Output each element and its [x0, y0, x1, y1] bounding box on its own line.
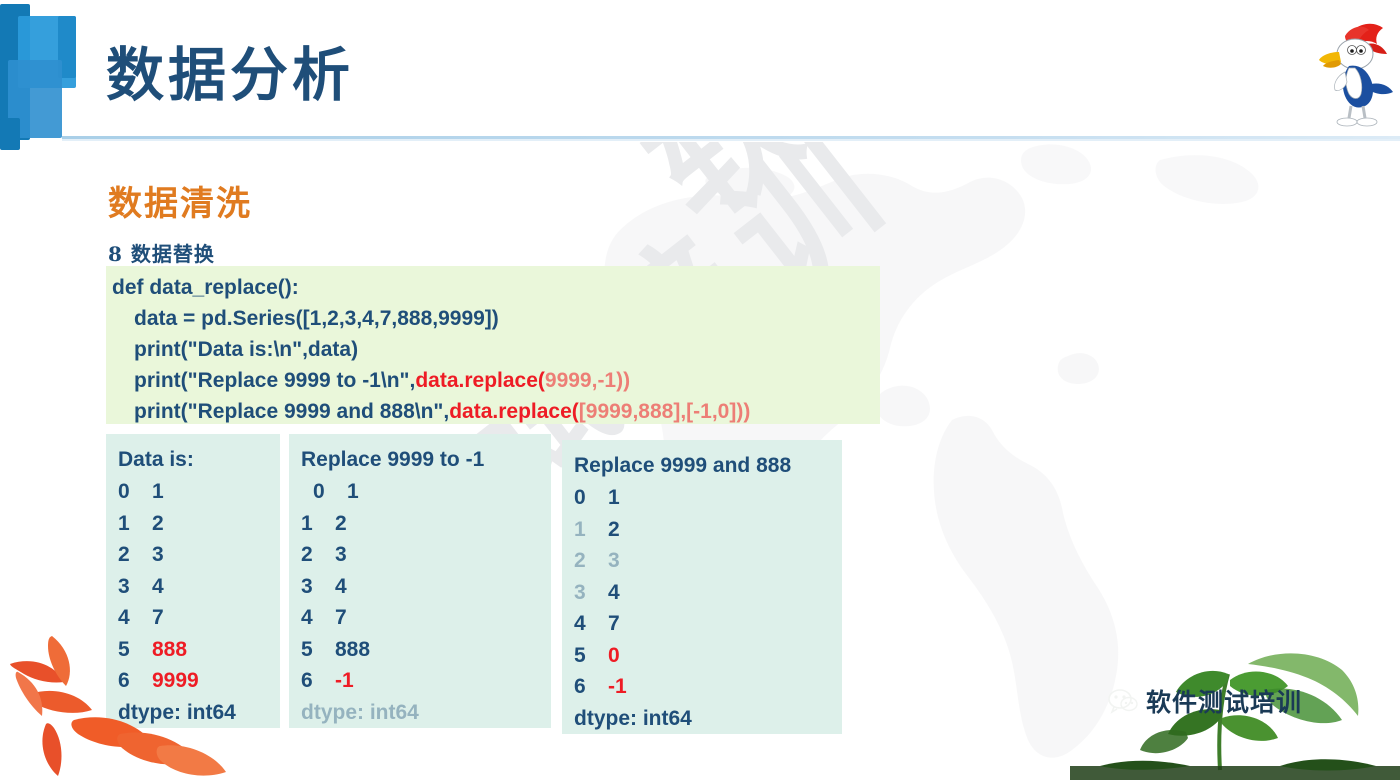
- output-row: 23: [301, 539, 539, 571]
- output-dtype: dtype: int64: [574, 703, 830, 735]
- wechat-icon: [1108, 688, 1138, 714]
- row-value: 9999: [152, 669, 199, 692]
- code-text-3-call: data.replace(: [415, 369, 545, 392]
- row-index: 0: [574, 482, 608, 514]
- brand-footer: 软件测试培训: [1108, 683, 1302, 719]
- header-divider-shadow: [62, 139, 1400, 141]
- slide-canvas: 软件测 试培训 数据分析: [0, 0, 1400, 780]
- output-row: 47: [118, 602, 268, 634]
- row-index: 0: [301, 476, 347, 508]
- output-row: 34: [574, 577, 830, 609]
- row-index: 4: [301, 602, 335, 634]
- output-row: 47: [574, 608, 830, 640]
- row-value: 7: [608, 612, 620, 635]
- row-index: 5: [118, 634, 152, 666]
- output-row: 01: [301, 476, 539, 508]
- output-row: 01: [118, 476, 268, 508]
- row-index: 4: [118, 602, 152, 634]
- output-row: 12: [301, 508, 539, 540]
- output-row: 34: [301, 571, 539, 603]
- output-title: Data is:: [118, 444, 268, 476]
- code-block: def data_replace(): data = pd.Series([1,…: [106, 266, 880, 424]
- brand-label: 软件测试培训: [1146, 683, 1302, 719]
- row-value: 0: [608, 644, 620, 667]
- row-index: 6: [301, 665, 335, 697]
- row-value: -1: [335, 669, 354, 692]
- row-index: 0: [118, 476, 152, 508]
- output-panel-data-is: Data is: 01 12 23 34 47 5888 69999 dtype…: [106, 434, 280, 728]
- code-line-1: data = pd.Series([1,2,3,4,7,888,9999]): [106, 303, 880, 334]
- code-line-4: print("Replace 9999 and 888\n",data.repl…: [106, 396, 880, 427]
- row-value: 4: [335, 575, 347, 598]
- code-text-4-prefix: print("Replace 9999 and 888\n",: [134, 400, 449, 423]
- output-row: 34: [118, 571, 268, 603]
- row-index: 2: [574, 545, 608, 577]
- row-value: 1: [347, 480, 359, 503]
- row-value: 3: [335, 543, 347, 566]
- row-value: 2: [335, 512, 347, 535]
- row-index: 2: [118, 539, 152, 571]
- row-value: 3: [608, 549, 620, 572]
- output-row: 5888: [118, 634, 268, 666]
- sub-heading: 8 数据替换: [108, 238, 215, 267]
- row-value: 7: [335, 606, 347, 629]
- output-panel-replace-9999-888: Replace 9999 and 888 01 12 23 34 47 50 6…: [562, 440, 842, 734]
- row-index: 5: [301, 634, 335, 666]
- row-index: 5: [574, 640, 608, 672]
- row-value: 1: [152, 480, 164, 503]
- row-value: 2: [608, 518, 620, 541]
- row-index: 2: [301, 539, 335, 571]
- row-value: 7: [152, 606, 164, 629]
- page-title: 数据分析: [106, 46, 354, 104]
- row-index: 3: [118, 571, 152, 603]
- output-dtype: dtype: int64: [118, 697, 268, 729]
- row-value: 4: [152, 575, 164, 598]
- output-title: Replace 9999 to -1: [301, 444, 539, 476]
- row-value: 1: [608, 486, 620, 509]
- output-row: 12: [118, 508, 268, 540]
- output-row: 6-1: [301, 665, 539, 697]
- code-text-4-args: [9999,888],[-1,0])): [579, 400, 751, 423]
- row-index: 3: [301, 571, 335, 603]
- output-row: 23: [574, 545, 830, 577]
- code-text-1: data = pd.Series([1,2,3,4,7,888,9999]): [134, 307, 499, 330]
- output-row: 5888: [301, 634, 539, 666]
- output-panel-replace-9999: Replace 9999 to -1 01 12 23 34 47 5888 6…: [289, 434, 551, 728]
- row-value: 3: [152, 543, 164, 566]
- output-row: 12: [574, 514, 830, 546]
- output-dtype: dtype: int64: [301, 697, 539, 729]
- output-title: Replace 9999 and 888: [574, 450, 830, 482]
- output-row: 69999: [118, 665, 268, 697]
- code-line-0: def data_replace():: [106, 272, 880, 303]
- row-index: 1: [574, 514, 608, 546]
- row-value: -1: [608, 675, 627, 698]
- row-index: 6: [574, 671, 608, 703]
- row-index: 1: [301, 508, 335, 540]
- row-index: 3: [574, 577, 608, 609]
- output-row: 47: [301, 602, 539, 634]
- row-value: 888: [152, 638, 187, 661]
- row-index: 6: [118, 665, 152, 697]
- output-row: 50: [574, 640, 830, 672]
- decorative-blue-blocks: [0, 0, 90, 152]
- output-row: 23: [118, 539, 268, 571]
- woodpecker-mascot-icon: [1305, 14, 1397, 136]
- row-index: 4: [574, 608, 608, 640]
- row-value: 888: [335, 638, 370, 661]
- row-value: 4: [608, 581, 620, 604]
- code-line-3: print("Replace 9999 to -1\n",data.replac…: [106, 365, 880, 396]
- code-text-2: print("Data is:\n",data): [134, 338, 358, 361]
- row-value: 2: [152, 512, 164, 535]
- code-text-3-args: 9999,-1)): [545, 369, 630, 392]
- section-title: 数据清洗: [108, 176, 252, 225]
- code-text-4-call: data.replace(: [449, 400, 579, 423]
- output-row: 6-1: [574, 671, 830, 703]
- code-text-0: def data_replace():: [112, 276, 299, 299]
- output-row: 01: [574, 482, 830, 514]
- code-line-2: print("Data is:\n",data): [106, 334, 880, 365]
- logo-block-4: [0, 118, 20, 150]
- row-index: 1: [118, 508, 152, 540]
- code-text-3-prefix: print("Replace 9999 to -1\n",: [134, 369, 415, 392]
